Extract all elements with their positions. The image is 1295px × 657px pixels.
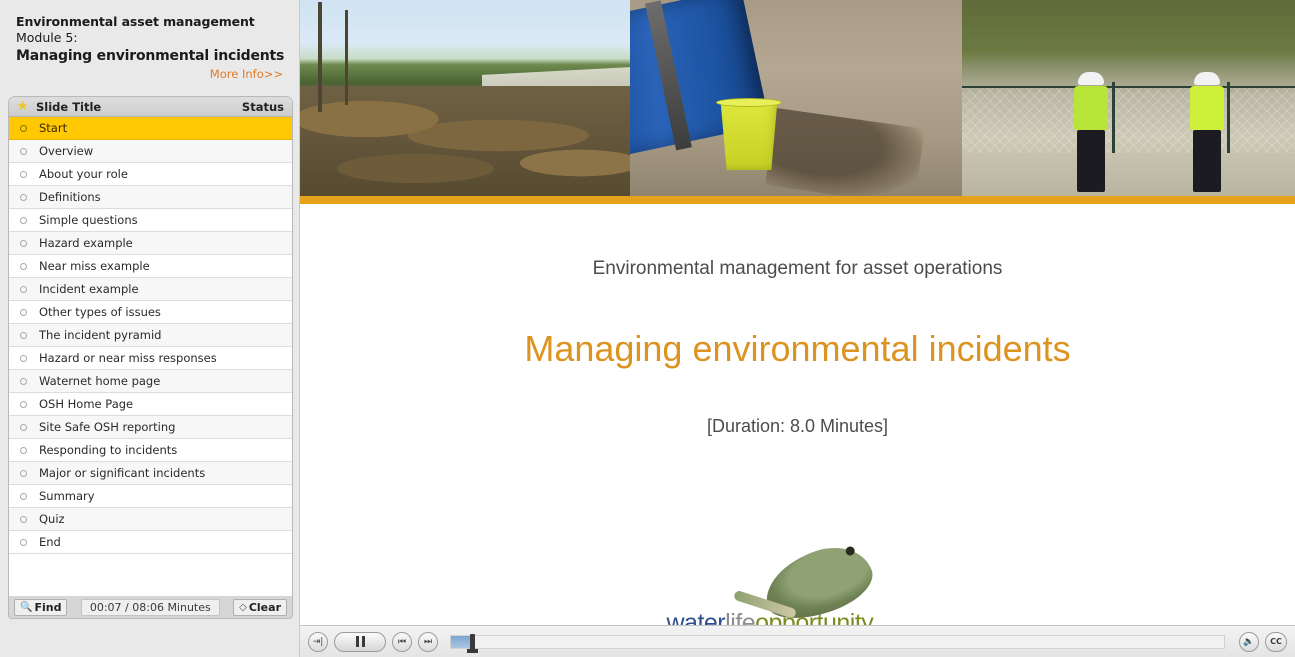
slide-list[interactable]: StartOverviewAbout your roleDefinitionsS… xyxy=(9,117,292,616)
slide-list-item[interactable]: Definitions xyxy=(9,186,292,209)
slide-list-panel: ★ Slide Title Status StartOverviewAbout … xyxy=(8,96,293,617)
slide-list-item-label: Start xyxy=(39,121,67,135)
module-title: Managing environmental incidents xyxy=(16,47,289,65)
slide-heading: Managing environmental incidents xyxy=(300,328,1295,370)
slide-duration: [Duration: 8.0 Minutes] xyxy=(300,416,1295,437)
volume-icon[interactable]: 🔈 xyxy=(1239,632,1259,652)
slide-list-item[interactable]: OSH Home Page xyxy=(9,393,292,416)
slide-stage: CALTEX Delo xyxy=(300,0,1295,657)
slide-list-item[interactable]: Near miss example xyxy=(9,255,292,278)
more-info-link[interactable]: More Info>> xyxy=(16,67,289,81)
slide-bullet-icon xyxy=(18,240,29,247)
slide-list-item-label: The incident pyramid xyxy=(39,328,161,342)
slide-bullet-icon xyxy=(18,171,29,178)
seek-bar[interactable] xyxy=(450,635,1225,649)
slide-list-header: ★ Slide Title Status xyxy=(9,97,292,117)
slide-list-item-label: Incident example xyxy=(39,282,139,296)
banner-photo-oil-drum: CALTEX Delo xyxy=(630,0,962,196)
slide-list-item[interactable]: Responding to incidents xyxy=(9,439,292,462)
slide-list-item[interactable]: Major or significant incidents xyxy=(9,462,292,485)
banner-photo-flood-debris xyxy=(300,0,630,196)
banner-photo-workers xyxy=(962,0,1295,196)
previous-slide-icon[interactable]: ⏮ xyxy=(392,632,412,652)
slide-list-item-label: Near miss example xyxy=(39,259,150,273)
drum-product-label: Delo xyxy=(630,47,636,106)
sidebar-toggle-icon[interactable]: ⇥| xyxy=(308,632,328,652)
slide-list-item-label: Hazard example xyxy=(39,236,133,250)
slide-list-item-label: Quiz xyxy=(39,512,65,526)
cc-button[interactable]: CC xyxy=(1265,632,1287,652)
slide-bullet-icon xyxy=(18,217,29,224)
slide-bullet-icon xyxy=(18,286,29,293)
slide-list-item[interactable]: Simple questions xyxy=(9,209,292,232)
slide-list-item-label: Simple questions xyxy=(39,213,138,227)
magnifier-icon: 🔍 xyxy=(20,602,32,613)
slide-list-item[interactable]: Other types of issues xyxy=(9,301,292,324)
slide-list-item[interactable]: About your role xyxy=(9,163,292,186)
slide-list-item[interactable]: Site Safe OSH reporting xyxy=(9,416,292,439)
pause-button[interactable] xyxy=(334,632,386,652)
pause-icon xyxy=(356,636,365,647)
slide-bullet-icon xyxy=(18,309,29,316)
slide-list-item-label: Other types of issues xyxy=(39,305,161,319)
slide-list-item[interactable]: Incident example xyxy=(9,278,292,301)
slide-bullet-icon xyxy=(18,148,29,155)
slide-list-item[interactable]: Waternet home page xyxy=(9,370,292,393)
slide-list-item[interactable]: Summary xyxy=(9,485,292,508)
worker-figure xyxy=(1190,72,1224,192)
star-icon: ★ xyxy=(16,100,29,113)
slide-bullet-icon xyxy=(18,194,29,201)
player-controls: ⇥| ⏮ ⏭ 🔈 CC xyxy=(300,625,1295,657)
slide-list-item-label: Hazard or near miss responses xyxy=(39,351,217,365)
slide-bullet-icon xyxy=(18,378,29,385)
find-button[interactable]: 🔍 Find xyxy=(14,599,67,616)
course-title: Environmental asset management xyxy=(16,14,289,29)
slide-list-item[interactable]: Overview xyxy=(9,140,292,163)
worker-figure xyxy=(1074,72,1108,192)
slide-list-item-label: Major or significant incidents xyxy=(39,466,205,480)
seek-fill xyxy=(451,636,470,648)
slide-list-item-label: Responding to incidents xyxy=(39,443,177,457)
slide-bullet-icon xyxy=(18,125,29,132)
slide-list-item-label: About your role xyxy=(39,167,128,181)
slide-list-item-label: Definitions xyxy=(39,190,101,204)
slide-list-item[interactable]: End xyxy=(9,531,292,554)
sidebar-header: Environmental asset management Module 5:… xyxy=(0,0,299,83)
slide-list-item-label: OSH Home Page xyxy=(39,397,133,411)
slide-list-item[interactable]: Hazard example xyxy=(9,232,292,255)
module-number: Module 5: xyxy=(16,30,289,46)
slide-list-item-label: Site Safe OSH reporting xyxy=(39,420,175,434)
sidebar: Environmental asset management Module 5:… xyxy=(0,0,300,657)
slide-bullet-icon xyxy=(18,332,29,339)
column-header-status: Status xyxy=(242,100,284,114)
clear-label: Clear xyxy=(249,601,281,614)
slide-bullet-icon xyxy=(18,424,29,431)
clear-button[interactable]: ◇ Clear xyxy=(233,599,287,616)
slide-list-item-label: Summary xyxy=(39,489,95,503)
eraser-icon: ◇ xyxy=(239,602,247,613)
slide-bullet-icon xyxy=(18,355,29,362)
slide-bullet-icon xyxy=(18,516,29,523)
slide-list-footer: 🔍 Find 00:07 / 08:06 Minutes ◇ Clear xyxy=(8,596,293,619)
slide-bullet-icon xyxy=(18,401,29,408)
slide-bullet-icon xyxy=(18,493,29,500)
slide-list-item-label: Waternet home page xyxy=(39,374,160,388)
slide-list-item-label: Overview xyxy=(39,144,93,158)
slide-bullet-icon xyxy=(18,447,29,454)
slide-subtitle: Environmental management for asset opera… xyxy=(300,258,1295,280)
elearning-player: Environmental asset management Module 5:… xyxy=(0,0,1295,657)
slide-list-item[interactable]: Quiz xyxy=(9,508,292,531)
column-header-slide-title: Slide Title xyxy=(36,100,242,114)
player-right-controls: 🔈 CC xyxy=(1239,632,1287,652)
banner-strip: CALTEX Delo xyxy=(300,0,1295,196)
find-label: Find xyxy=(34,601,61,614)
slide-list-item[interactable]: The incident pyramid xyxy=(9,324,292,347)
slide-bullet-icon xyxy=(18,539,29,546)
next-slide-icon[interactable]: ⏭ xyxy=(418,632,438,652)
slide-content: Environmental management for asset opera… xyxy=(300,258,1295,657)
slide-list-item[interactable]: Hazard or near miss responses xyxy=(9,347,292,370)
slide-bullet-icon xyxy=(18,470,29,477)
accent-divider xyxy=(300,196,1295,204)
slide-list-item-label: End xyxy=(39,535,61,549)
slide-bullet-icon xyxy=(18,263,29,270)
slide-list-item[interactable]: Start xyxy=(9,117,292,140)
time-display: 00:07 / 08:06 Minutes xyxy=(81,599,220,616)
seek-handle[interactable] xyxy=(470,634,475,652)
